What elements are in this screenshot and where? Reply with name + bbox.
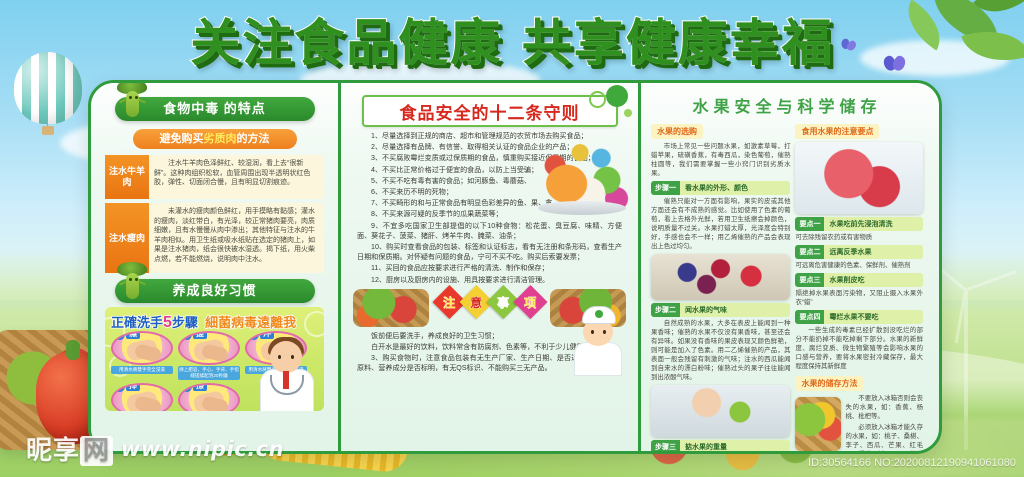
rule-item: 12、厨房以及厨房内的设施、用具按要求进行清洁管理。 — [357, 275, 622, 285]
step-key: 步骤二 — [651, 303, 680, 317]
point-text: 可去除残留农药或有害物质 — [795, 233, 923, 242]
point-key: 要点四 — [795, 310, 824, 324]
point-text: 隔绝掉水果表面污染物，又阻止摄入水果外衣“蜡” — [795, 289, 923, 307]
rule-item: 11、买回的食品应按要求进行严格的清洗、制作和保存； — [357, 263, 622, 273]
eat-title-post: 的注意要点 — [833, 127, 873, 136]
step-number: 5 — [181, 383, 192, 392]
wash-step: 2搓 擠上肥皂，手心、手背、手指縫搓揉起泡20秒鐘 — [178, 331, 240, 380]
broccoli-mascot-icon — [117, 262, 147, 302]
step-value: 闻水果的气味 — [680, 303, 790, 317]
step-key: 步骤三 — [651, 440, 680, 454]
meat-row: 注水牛羊肉 注水牛羊肉色泽鲜红、较湿润，看上去“很新鲜”。这种肉组织松软，血管周… — [105, 155, 324, 199]
fruit-points-block: 食用水果的注意要点 要点一 水果吃前先浸泡清洗 可去除残留农药或有害物质 要点二… — [795, 121, 923, 454]
handwashing-title-a: 正確洗手 — [111, 315, 163, 330]
twelve-rules-body: 1、尽量选择到正规的商店、超市和管理规范的农贸市场去购买食品； 2、尽量选择有品… — [351, 131, 628, 285]
brand-char-a: 昵 — [26, 436, 53, 466]
woman-eating-apple-image — [651, 385, 790, 437]
point-value: 水果吃前先浸泡清洗 — [824, 217, 923, 231]
rule-item: 9、不宜多吃国家卫生部提倡的以下10种食物：松花蛋、臭豆腐、味精、方便面、葵花子… — [357, 221, 622, 241]
doctor-cartoon-illustration — [570, 306, 626, 376]
step-number: 2 — [181, 331, 192, 340]
point-bar-two: 要点二 远离反季水果 — [795, 245, 923, 259]
step-label: 沖 — [260, 331, 274, 339]
step-label: 捧 — [126, 383, 140, 391]
column-middle: 食品安全的十二条守则 1、尽量选择到正规的商店、超市和管理规范的农贸市场去购买食… — [341, 83, 641, 451]
point-key: 要点一 — [795, 217, 824, 231]
step-caption: 擠上肥皂，手心、手背、手指縫搓揉起泡20秒鐘 — [178, 366, 240, 380]
point-bar-three: 要点三 水果削皮吃 — [795, 273, 923, 287]
section-title-twelve-rules: 食品安全的十二条守则 — [362, 95, 618, 127]
handwashing-title-b: 步驟 — [172, 315, 198, 330]
column-left: 食物中毒 的特点 避免购买劣质肉的方法 注水牛羊肉 注水牛羊肉色泽鲜红、较湿润，… — [91, 83, 341, 451]
step-bar-one: 步骤一 看水果的外形、颜色 — [651, 181, 790, 195]
label-fruit-selection: 水果的选购 — [651, 124, 703, 139]
watermark-brand: 昵享网 — [26, 430, 113, 467]
notice-char: 项 — [524, 293, 536, 310]
fruit-selection-block: 水果的选购 市场上常见一些问题水果，如激素草莓，打蜡苹果，硫磺香蕉，有毒西瓜，染… — [651, 121, 790, 454]
step-bar-three: 步骤三 掂水果的重量 — [651, 440, 790, 454]
notice-char: 注 — [443, 293, 455, 310]
wash-step: 5擦 用乾淨毛巾或紙巾擦乾雙手 — [178, 383, 240, 411]
point-value: 远离反季水果 — [824, 245, 923, 259]
label-fruit-eating-points: 食用水果的注意要点 — [795, 124, 879, 139]
rule-item: 10、购买时查看食品的包装、标签和认证标志，看有无注册和条形码，查看生产日期和保… — [357, 242, 622, 262]
step-number: 1 — [114, 331, 125, 340]
apple-points-area: 要点一 水果吃前先浸泡清洗 可去除残留农药或有害物质 要点二 远离反季水果 可远… — [795, 142, 923, 371]
step-value: 掂水果的重量 — [680, 440, 790, 454]
step-caption: 用清水將雙手完全浸濕 — [111, 366, 173, 374]
food-pile-image — [534, 125, 630, 217]
section-title-fruit-safety: 水果安全与科学储存 — [651, 93, 923, 117]
notice-diamonds: 注 意 事 项 — [437, 290, 542, 314]
step-value: 看水果的外形、颜色 — [680, 181, 790, 195]
point-value: 水果削皮吃 — [824, 273, 923, 287]
point-bar-one: 要点一 水果吃前先浸泡清洗 — [795, 217, 923, 231]
step-label: 擦 — [193, 383, 207, 391]
watermark: 昵享网 www.nipic.cn — [26, 430, 284, 467]
subheader-highlight: 劣质肉 — [204, 133, 237, 145]
meat-text: 注水牛羊肉色泽鲜红、较湿润，看上去“很新鲜”。这种肉组织松软，血管周围出现半透明… — [149, 155, 324, 199]
storage-text: 必须放入冰箱才能久存的水果，如：桃子、桑椹、李子、西瓜、芒果、红毛丹、樱桃、板栗… — [845, 423, 923, 454]
handwashing-title: 正確洗手5步驟 細菌病毒遠離我 — [111, 312, 296, 332]
point-value: 霉烂水果不要吃 — [824, 310, 923, 324]
watermark-url: www.nipic.cn — [121, 437, 284, 461]
storage-text: 不要放入冰箱否则会丧失的水果，如：香蕉、杨桃、枇杷等。 — [845, 394, 923, 421]
point-key: 要点二 — [795, 245, 824, 259]
wash-step: 1濕 用清水將雙手完全浸濕 — [111, 331, 173, 380]
subheader-pre: 避免购买 — [160, 133, 204, 145]
point-text: 可远离危害健康的色素、保鲜剂、催熟剂 — [795, 261, 923, 270]
step-key: 步骤一 — [651, 181, 680, 195]
image-id-text: ID:30564166 NO:20200812190941061080 — [808, 457, 1016, 469]
step-text: 催熟只能对一方面有影响，果实的皮或其他方面还会有不成熟的感觉。比如使用了色素的葡… — [651, 197, 790, 251]
doctor-illustration — [254, 335, 320, 411]
brand-char-c: 网 — [80, 436, 113, 466]
berries-image — [651, 254, 790, 300]
notice-char: 事 — [497, 293, 509, 310]
step-number: 4 — [114, 383, 125, 392]
label-fruit-storage: 水果的储存方法 — [795, 376, 863, 391]
poster-title: 关注食品健康 共享健康幸福 — [190, 14, 833, 72]
handwashing-title-num: 5 — [163, 314, 172, 331]
brand-char-b: 享 — [53, 436, 80, 466]
meat-tag: 注水牛羊肉 — [105, 155, 149, 199]
wash-step: 4捧 用水捧水沖洗水龍頭把手後關水龍頭 — [111, 383, 173, 411]
subheader-post: 的方法 — [237, 133, 270, 145]
broccoli-mascot-icon — [117, 80, 147, 120]
column-right: 水果安全与科学储存 水果的选购 市场上常见一些问题水果，如激素草莓，打蜡苹果，硫… — [641, 83, 933, 451]
apple-image — [795, 142, 923, 214]
handwashing-poster: 正確洗手5步驟 細菌病毒遠離我 1濕 用清水將雙手完全浸濕 2搓 擠上肥皂，手心… — [105, 307, 324, 411]
step-text: 自然成熟的水果，大多在表皮上能闻到一种果香味；催熟的水果不仅没有果香味，甚至还会… — [651, 319, 790, 382]
meat-text: 未灌水的瘦肉颜色鲜红，用手摸略有黏感；灌水的瘦肉，淡红带白，有光泽，较正常猪肉要… — [149, 203, 324, 273]
point-text: 一些生成的毒素已经扩散到没吃烂的部分不能扔掉不能吃掉剩下部分。水果的新鲜度、腐烂… — [795, 326, 923, 371]
notice-body: 饭前便后要洗手，养成良好的卫生习惯； 白开水是最好的饮料，饮料常含有防腐剂、色素… — [351, 331, 628, 374]
poster-stage: 关注食品健康 共享健康幸福 食物中毒 的特点 避免购买劣质肉的方法 — [0, 0, 1024, 477]
step-bar-two: 步骤二 闻水果的气味 — [651, 303, 790, 317]
step-label: 搓 — [193, 331, 207, 339]
point-key: 要点三 — [795, 273, 824, 287]
fruit-selection-intro: 市场上常见一些问题水果，如激素草莓，打蜡苹果，硫磺香蕉，有毒西瓜，染色葡萄，催熟… — [651, 142, 790, 178]
fruit-basket-image — [795, 397, 841, 451]
eat-title-pre: 食用水果 — [801, 127, 833, 136]
subheader-avoid-bad-meat: 避免购买劣质肉的方法 — [133, 129, 297, 149]
poster-title-wrap: 关注食品健康 共享健康幸福 — [0, 14, 1024, 72]
notice-char: 意 — [470, 293, 482, 310]
step-label: 濕 — [126, 331, 140, 339]
point-bar-four: 要点四 霉烂水果不要吃 — [795, 310, 923, 324]
handwashing-title-c: 細菌病毒遠離我 — [205, 315, 296, 330]
content-board: 食物中毒 的特点 避免购买劣质肉的方法 注水牛羊肉 注水牛羊肉色泽鲜红、较湿润，… — [88, 80, 942, 454]
vegetable-basket-image — [353, 289, 429, 327]
